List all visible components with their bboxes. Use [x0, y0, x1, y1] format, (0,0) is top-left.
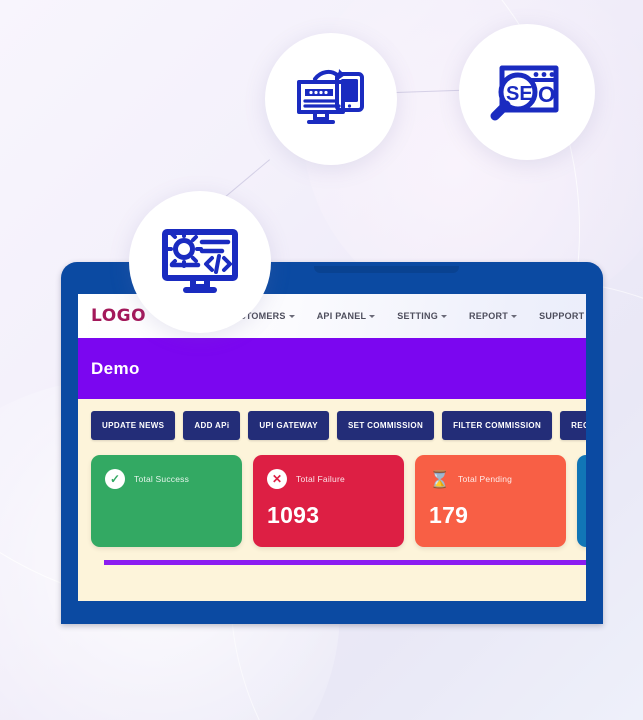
page-title: Demo: [91, 359, 140, 379]
recharge-button[interactable]: RECHARGE: [560, 411, 586, 440]
stat-card-label: Total Success: [134, 474, 189, 484]
nav-item-support-label: SUPPORT: [539, 311, 584, 321]
stat-card-total-pending[interactable]: ⌛ Total Pending 179: [415, 455, 566, 547]
navbar-menu: CUSTOMERS API PANEL SETTING REPORT: [226, 311, 586, 321]
stat-card-header: ✕ Total Failure: [267, 468, 390, 490]
upi-gateway-button[interactable]: UPI GATEWAY: [248, 411, 329, 440]
nav-item-api-panel[interactable]: API PANEL: [317, 311, 376, 321]
stat-card-header: ✓ Total Success: [105, 468, 228, 490]
connector-line-badge1-badge2: [396, 90, 462, 93]
badge-seo: O SE: [459, 24, 595, 160]
stat-card-label: Total Failure: [296, 474, 345, 484]
set-commission-button[interactable]: SET COMMISSION: [337, 411, 434, 440]
app-content: UPDATE NEWS ADD APi UPI GATEWAY SET COMM…: [78, 399, 586, 601]
stat-card-total-purchase[interactable]: Total Purchase 100000: [577, 455, 586, 547]
nav-item-setting-label: SETTING: [397, 311, 438, 321]
nav-item-api-panel-label: API PANEL: [317, 311, 367, 321]
nav-item-setting[interactable]: SETTING: [397, 311, 447, 321]
web-development-icon: [160, 227, 240, 297]
stat-card-header: ⌛ Total Pending: [429, 468, 552, 490]
nav-item-support[interactable]: SUPPORT: [539, 311, 586, 321]
stat-card-total-success[interactable]: ✓ Total Success: [91, 455, 242, 547]
seo-icon: O SE: [490, 60, 564, 124]
hourglass-icon: ⌛: [429, 471, 449, 488]
nav-item-report[interactable]: REPORT: [469, 311, 517, 321]
add-api-button[interactable]: ADD APi: [183, 411, 240, 440]
stat-card-total-failure[interactable]: ✕ Total Failure 1093: [253, 455, 404, 547]
laptop-screen: LOGO CUSTOMERS API PANEL SETTING: [78, 294, 586, 601]
chevron-down-icon: [369, 315, 375, 318]
x-circle-icon: ✕: [267, 469, 287, 489]
svg-text:O: O: [538, 82, 555, 107]
admin-dashboard-app: LOGO CUSTOMERS API PANEL SETTING: [78, 294, 586, 601]
brand-logo[interactable]: LOGO: [91, 306, 146, 326]
laptop-notch: [314, 266, 459, 273]
badge-responsive-design: [265, 33, 397, 165]
stat-card-value: 1093: [267, 502, 390, 529]
responsive-design-icon: [295, 66, 367, 132]
filter-commission-button[interactable]: FILTER COMMISSION: [442, 411, 552, 440]
svg-text:SE: SE: [506, 83, 533, 105]
update-news-button[interactable]: UPDATE NEWS: [91, 411, 175, 440]
content-divider: [104, 560, 586, 565]
chevron-down-icon: [441, 315, 447, 318]
chevron-down-icon: [511, 315, 517, 318]
action-button-row: UPDATE NEWS ADD APi UPI GATEWAY SET COMM…: [91, 411, 586, 440]
stat-card-value: 179: [429, 502, 552, 529]
page-banner: Demo UT: [78, 338, 586, 399]
nav-item-report-label: REPORT: [469, 311, 508, 321]
stat-card-row: ✓ Total Success ✕ Total Failure 1093: [91, 455, 586, 547]
chevron-down-icon: [289, 315, 295, 318]
laptop-mockup: LOGO CUSTOMERS API PANEL SETTING: [61, 262, 603, 624]
stat-card-label: Total Pending: [458, 474, 512, 484]
badge-web-development: [129, 191, 271, 333]
check-circle-icon: ✓: [105, 469, 125, 489]
